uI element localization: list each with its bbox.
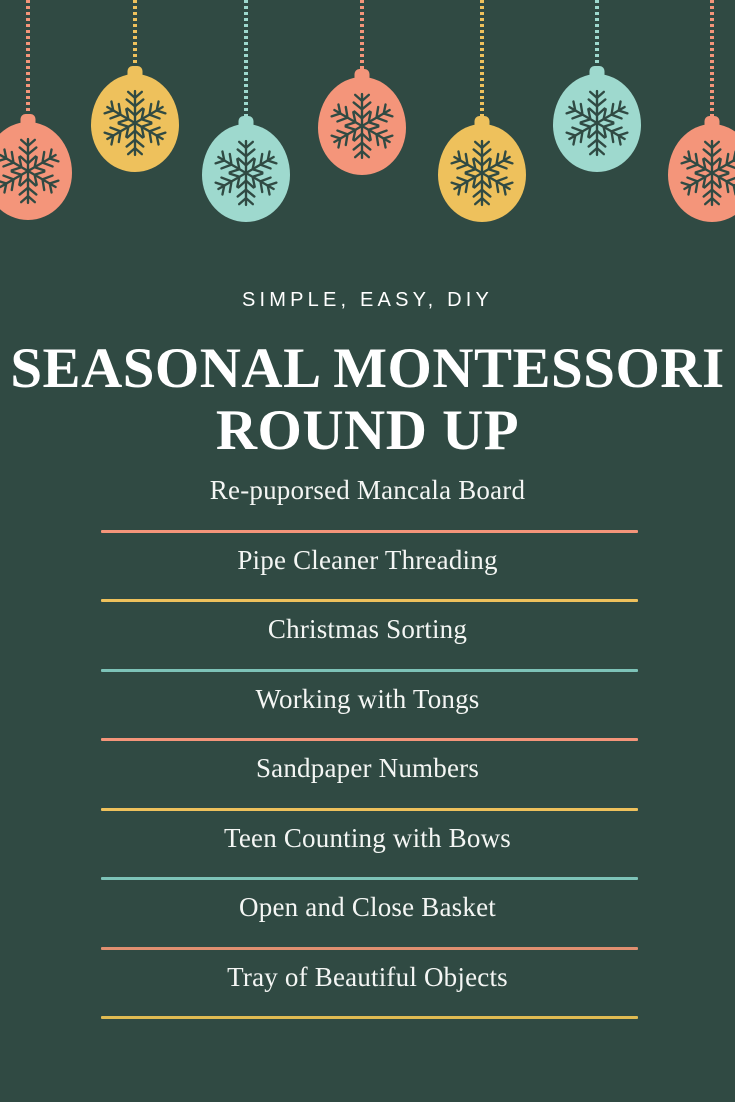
list-item[interactable]: Sandpaper Numbers [0, 741, 735, 811]
list-item[interactable]: Working with Tongs [0, 672, 735, 742]
list-item-label: Working with Tongs [0, 672, 735, 721]
list-item-label: Sandpaper Numbers [0, 741, 735, 790]
ornament-body [553, 74, 641, 172]
list-item[interactable]: Open and Close Basket [0, 880, 735, 950]
snowflake-ornament-icon [0, 0, 73, 235]
ornament-string [133, 0, 137, 71]
page-title-line-2: ROUND UP [0, 400, 735, 462]
page-title-line-1: SEASONAL MONTESSORI [0, 338, 735, 400]
eyebrow-text: SIMPLE, EASY, DIY [0, 288, 735, 312]
ornament-string [360, 0, 364, 74]
list-item[interactable]: Teen Counting with Bows [0, 811, 735, 881]
ornament-body [318, 77, 406, 175]
snowflake-ornament-icon [90, 0, 180, 235]
poster-canvas: SIMPLE, EASY, DIY SEASONAL MONTESSORI RO… [0, 0, 735, 1102]
list-item-divider [101, 1016, 638, 1019]
list-item-label: Teen Counting with Bows [0, 811, 735, 860]
snowflake-ornament-icon [201, 0, 291, 235]
ornament-string [244, 0, 248, 121]
snowflake-ornament-icon [552, 0, 642, 235]
list-item[interactable]: Tray of Beautiful Objects [0, 950, 735, 1020]
list-item[interactable]: Christmas Sorting [0, 602, 735, 672]
ornament-string [480, 0, 484, 121]
ornament-string [595, 0, 599, 71]
list-item[interactable]: Re-puporsed Mancala Board [0, 463, 735, 533]
snowflake-ornament-icon [317, 0, 407, 235]
list-item-label: Christmas Sorting [0, 602, 735, 651]
list-item[interactable]: Pipe Cleaner Threading [0, 533, 735, 603]
ornament-string [26, 0, 30, 119]
ornament-body [668, 124, 735, 222]
ornament-body [0, 122, 72, 220]
snowflake-ornament-icon [667, 0, 735, 235]
ornament-decoration-band [0, 0, 735, 235]
snowflake-ornament-icon [437, 0, 527, 235]
activity-list: Re-puporsed Mancala BoardPipe Cleaner Th… [0, 463, 735, 1019]
list-item-label: Pipe Cleaner Threading [0, 533, 735, 582]
list-item-label: Open and Close Basket [0, 880, 735, 929]
page-title: SEASONAL MONTESSORI ROUND UP [0, 338, 735, 461]
ornament-string [710, 0, 714, 121]
list-item-label: Tray of Beautiful Objects [0, 950, 735, 999]
ornament-body [91, 74, 179, 172]
list-item-label: Re-puporsed Mancala Board [0, 463, 735, 512]
ornament-body [438, 124, 526, 222]
ornament-body [202, 124, 290, 222]
